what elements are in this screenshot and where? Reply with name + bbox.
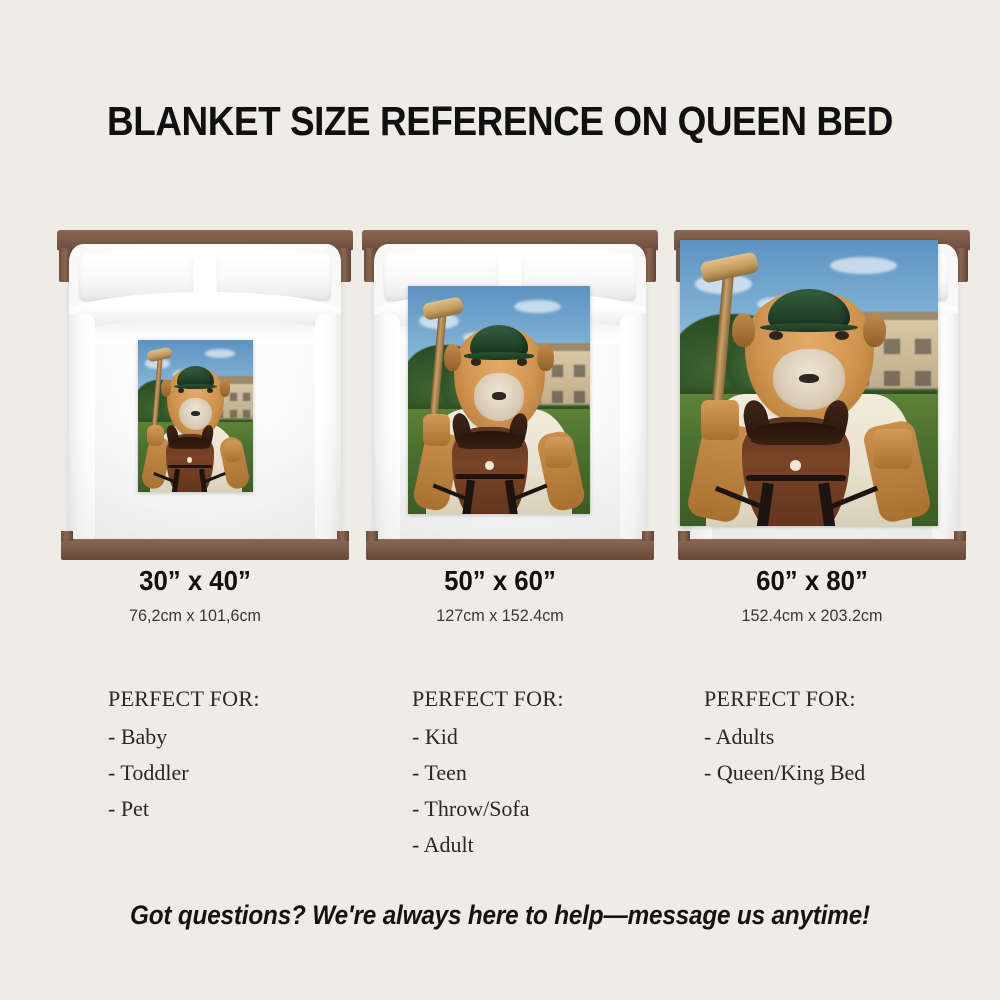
- size-cm-small: 76,2cm x 101,6cm: [43, 606, 347, 626]
- dog-ear-left: [732, 313, 755, 347]
- bed-illustration-medium: [362, 230, 658, 560]
- cloud: [205, 349, 235, 358]
- glove-left: [701, 400, 740, 440]
- bulldog-head: [454, 327, 545, 432]
- size-block-medium: 50” x 60” 127cm x 152.4cm: [340, 565, 660, 626]
- size-inches-large: 60” x 80”: [665, 565, 959, 597]
- size-labels: 30” x 40” 76,2cm x 101,6cm 50” x 60” 127…: [0, 565, 1000, 635]
- dog-eye-right: [517, 358, 527, 365]
- size-reference-infographic: BLANKET SIZE REFERENCE ON QUEEN BED: [0, 0, 1000, 1000]
- list-item: - Kid: [412, 726, 712, 748]
- horse-head: [742, 417, 850, 526]
- dog-eye-left: [769, 331, 783, 340]
- list-item: - Throw/Sofa: [412, 798, 712, 820]
- dog-eye-right: [207, 388, 213, 393]
- window: [242, 392, 251, 402]
- dog-ear-left: [161, 379, 171, 397]
- horse-mane: [458, 431, 522, 449]
- horse-mane: [169, 437, 210, 449]
- window: [914, 370, 931, 387]
- window: [551, 390, 564, 404]
- window: [573, 364, 586, 378]
- dog-eye-left: [471, 358, 481, 365]
- photo-blanket-large: [680, 240, 938, 526]
- photo-blanket-medium: [408, 286, 590, 514]
- perfect-for-title: PERFECT FOR:: [412, 686, 712, 712]
- bed-illustration-small: [57, 230, 353, 560]
- list-item: - Toddler: [108, 762, 408, 784]
- footboard-rail: [61, 539, 349, 560]
- list-item: - Queen/King Bed: [704, 762, 1000, 784]
- window: [883, 370, 900, 387]
- list-item: - Adult: [412, 834, 712, 856]
- list-item: - Teen: [412, 762, 712, 784]
- footboard-rail: [366, 539, 654, 560]
- size-block-large: 60” x 80” 152.4cm x 203.2cm: [652, 565, 972, 626]
- horse-blaze: [187, 457, 192, 463]
- bridle-strap: [746, 475, 846, 481]
- horse-head: [166, 434, 214, 492]
- size-inches-small: 30” x 40”: [48, 565, 342, 597]
- helmet-brim: [174, 384, 218, 389]
- blanket-artwork: [138, 340, 253, 492]
- list-item: - Baby: [108, 726, 408, 748]
- bed-illustration-large: [674, 230, 970, 560]
- size-cm-large: 152.4cm x 203.2cm: [660, 606, 964, 626]
- window: [914, 338, 931, 355]
- photo-blanket-small: [138, 340, 253, 492]
- perfect-for-title: PERFECT FOR:: [704, 686, 1000, 712]
- horse-blaze: [790, 460, 802, 471]
- footboard-rail: [678, 539, 966, 560]
- window: [551, 364, 564, 378]
- blanket-artwork: [680, 240, 938, 526]
- glove-left: [147, 425, 164, 446]
- dog-nose: [492, 392, 506, 400]
- window: [883, 338, 900, 355]
- window: [242, 409, 251, 419]
- glove-right: [874, 429, 913, 469]
- horse-blaze: [485, 461, 493, 470]
- dog-ear-right: [537, 344, 553, 371]
- list-item: - Adults: [704, 726, 1000, 748]
- horse-mane: [751, 422, 842, 445]
- dog-ear-left: [444, 344, 460, 371]
- dog-ear-right: [220, 379, 230, 397]
- perfect-for-small: PERFECT FOR: - Baby - Toddler - Pet: [108, 686, 408, 820]
- dog-ear-right: [863, 313, 886, 347]
- footer-message: Got questions? We're always here to help…: [50, 900, 950, 931]
- glove-right: [545, 437, 572, 469]
- perfect-for-title: PERFECT FOR:: [108, 686, 408, 712]
- list-item: - Pet: [108, 798, 408, 820]
- window: [229, 409, 238, 419]
- perfect-for-large: PERFECT FOR: - Adults - Queen/King Bed: [704, 686, 1000, 784]
- dog-eye-left: [178, 388, 184, 393]
- helmet-brim: [464, 352, 533, 359]
- bulldog-head: [745, 291, 874, 423]
- perfect-for-medium: PERFECT FOR: - Kid - Teen - Throw/Sofa -…: [412, 686, 712, 856]
- window: [229, 392, 238, 402]
- blanket-artwork: [408, 286, 590, 514]
- size-cm-medium: 127cm x 152.4cm: [348, 606, 652, 626]
- page-title: BLANKET SIZE REFERENCE ON QUEEN BED: [50, 98, 950, 145]
- window: [573, 390, 586, 404]
- perfect-for-section: PERFECT FOR: - Baby - Toddler - Pet PERF…: [0, 686, 1000, 866]
- glove-left: [423, 414, 450, 446]
- size-inches-medium: 50” x 60”: [353, 565, 647, 597]
- dog-eye-right: [835, 331, 849, 340]
- bridle-strap: [455, 474, 525, 479]
- glove-right: [224, 440, 241, 461]
- dog-nose: [799, 374, 819, 384]
- dog-nose: [191, 411, 200, 416]
- size-block-small: 30” x 40” 76,2cm x 101,6cm: [35, 565, 355, 626]
- horse-head: [452, 427, 528, 514]
